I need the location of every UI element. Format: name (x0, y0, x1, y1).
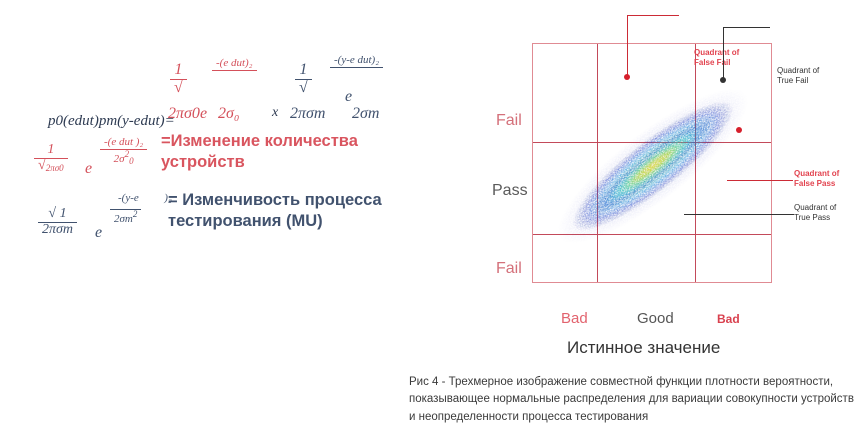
figure-caption: Рис 4 - Трехмерное изображение совместно… (409, 374, 859, 426)
formula-row3-fraction: √ 1 2πσm (38, 207, 77, 237)
formula-row2-fraction: 1 √2πσ0 (34, 143, 68, 173)
row3-e: e (95, 224, 102, 242)
formula-row3-exponent: 2σm2 (110, 197, 141, 225)
row3-exp-den-text: 2σm (114, 213, 133, 225)
formula-multiply-sign: x (272, 105, 278, 121)
callout-false-pass: Quadrant of False Pass (794, 169, 839, 189)
exp-a-denominator-text: 2σ₀ (218, 105, 239, 123)
marker-true-fail (720, 77, 726, 83)
leader-true-fail-horizontal (723, 27, 770, 28)
x-tick-bad-left: Bad (561, 310, 588, 327)
term-b-sqrt: √ (295, 80, 312, 97)
leader-true-pass (684, 214, 794, 215)
term-a-e: e (200, 105, 207, 123)
chart-figure: Fail Pass Fail Bad Good Bad Истинное зна… (489, 0, 859, 425)
row3-one: 1 (60, 206, 67, 221)
x-tick-bad-right: Bad (717, 312, 740, 326)
marker-false-fail (624, 74, 630, 80)
callout-false-fail: Quadrant of False Fail (694, 48, 739, 68)
row2-denom-text: 2πσ0 (46, 163, 64, 173)
row3-exp-den-sup: 2 (133, 209, 138, 219)
x-tick-good: Good (637, 310, 674, 327)
callout-true-pass: Quadrant of True Pass (794, 203, 836, 223)
exp-a-denominator (212, 71, 257, 83)
y-tick-fail-top: Fail (496, 112, 522, 130)
row2-exp-denominator: 2σ20 (100, 150, 147, 166)
marker-false-pass (736, 127, 742, 133)
term-b-numerator: 1 (295, 62, 312, 80)
row2-sqrt: √ (38, 158, 46, 173)
term-b-denominator: 2πσm (290, 105, 325, 123)
formula-left-hand-side: p0(edut)pm(y-edut)= (48, 113, 175, 130)
term-b-e: e (345, 88, 352, 106)
row2-numerator: 1 (34, 143, 68, 159)
formula-exponent-b: -(y-e dut)₂ (330, 55, 383, 79)
leader-false-fail-vertical (627, 15, 628, 77)
annotation-measurement-uncertainty: = Изменчивость процесса тестирования (MU… (168, 190, 418, 231)
density-cloud-svg (533, 44, 771, 282)
leader-false-pass (727, 180, 793, 181)
callout-true-fail: Quadrant of True Fail (777, 66, 819, 86)
x-axis-title: Истинное значение (567, 338, 720, 358)
term-a-numerator: 1 (170, 62, 187, 80)
formula-exponent-a: -(e dut)₂ (212, 58, 257, 82)
row3-sqrt: √ (48, 206, 56, 221)
density-cloud (533, 44, 771, 282)
leader-false-fail-horizontal (627, 15, 679, 16)
row2-e: e (85, 160, 92, 178)
exp-b-numerator: -(y-e dut)₂ (330, 55, 383, 68)
row2-exp-den-sub: 0 (129, 156, 134, 166)
formula-panel: p0(edut)pm(y-edut)= 1 √ 2πσ0 e -(e dut)₂… (0, 0, 480, 300)
scatter-plot-area (532, 43, 772, 283)
formula-row2-exponent: -(e dut )₂ 2σ20 (100, 137, 147, 166)
row3-numerator: √ 1 (38, 207, 77, 223)
row2-denominator: √2πσ0 (34, 159, 68, 174)
leader-true-fail-vertical (723, 27, 724, 80)
exp-a-numerator: -(e dut)₂ (212, 58, 257, 71)
lhs-text: p0(edut)pm(y-edut)= (48, 113, 175, 129)
row3-exp-denominator: 2σm2 (110, 210, 141, 226)
term-a-sqrt: √ (170, 80, 187, 97)
y-tick-pass: Pass (492, 182, 528, 200)
term-a-denominator: 2πσ0 (168, 105, 200, 123)
formula-term-a: 1 √ (170, 62, 187, 97)
annotation-device-population: =Изменение количества устройств (161, 131, 401, 172)
y-tick-fail-bottom: Fail (496, 260, 522, 278)
formula-term-b: 1 √ (295, 62, 312, 97)
row3-denominator: 2πσm (38, 223, 77, 238)
row2-exp-den-text: 2σ (114, 153, 125, 165)
exp-b-denominator-text: 2σm (352, 105, 379, 123)
exp-b-denominator (330, 68, 383, 80)
